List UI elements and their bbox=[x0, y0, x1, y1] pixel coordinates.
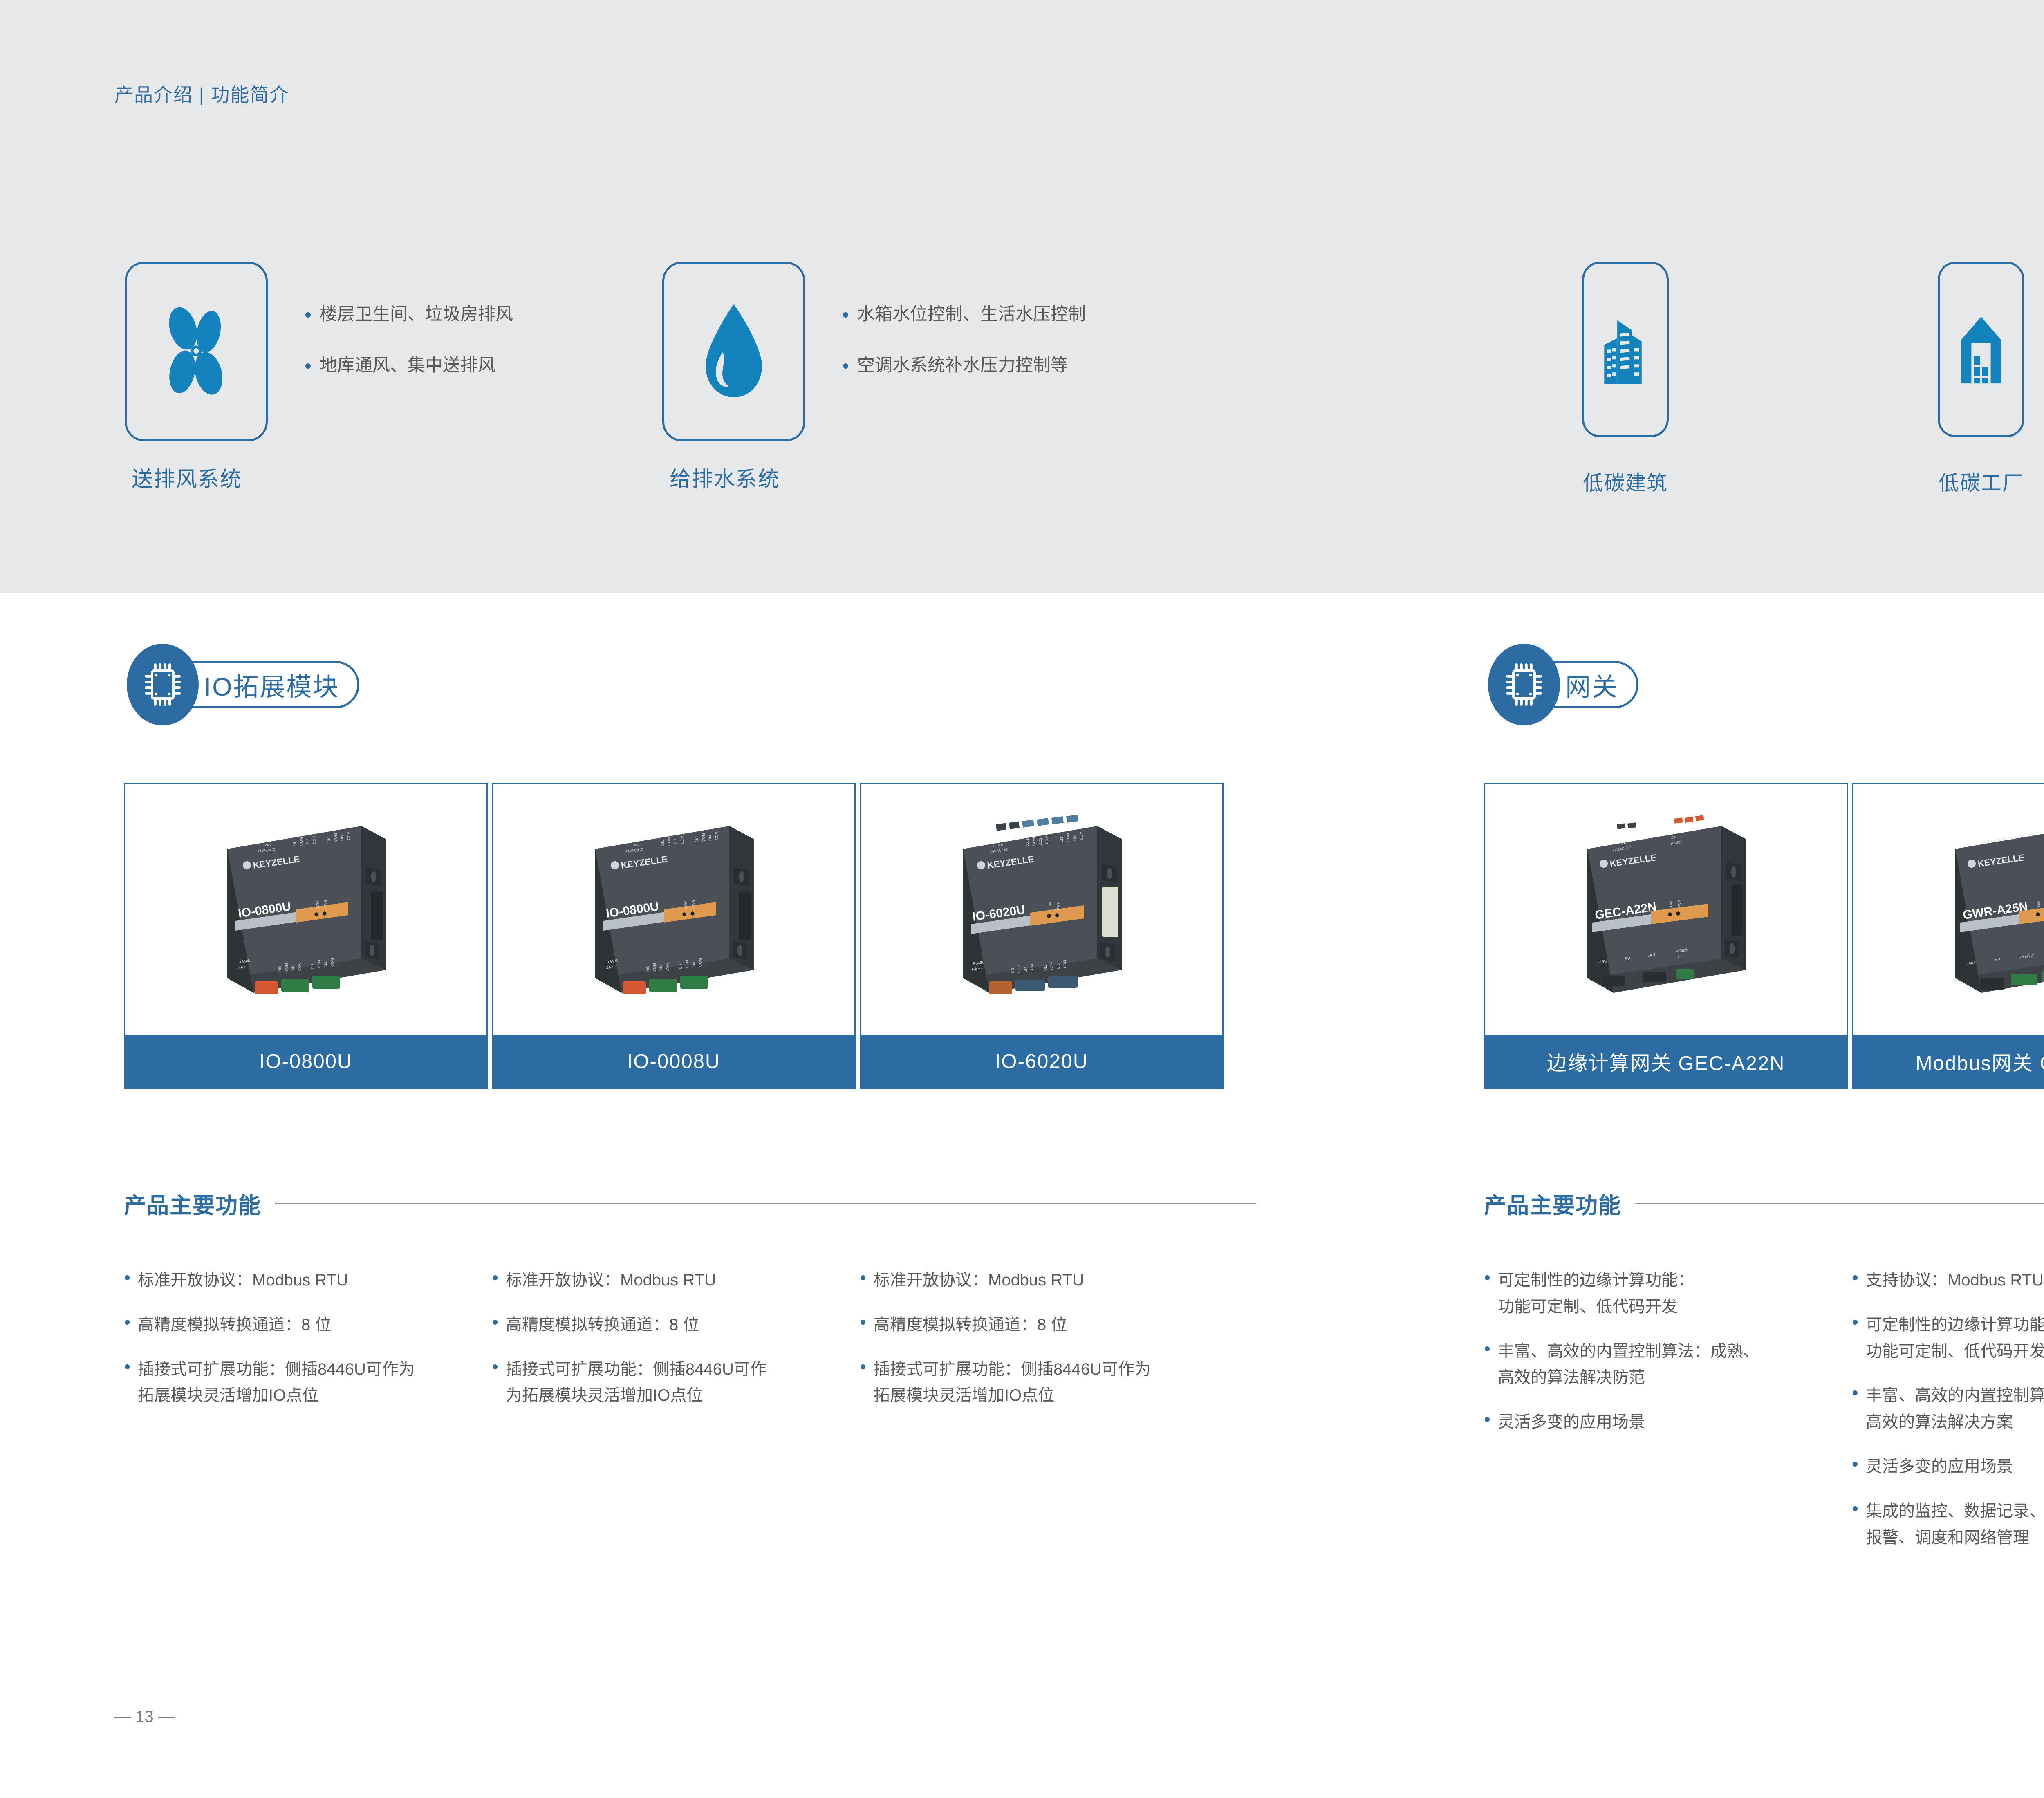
svg-text:UI6: UI6 bbox=[1056, 963, 1060, 969]
product-card[interactable]: GWR-A25N KEYZELLE + - NA 24VAC/DC NA + -… bbox=[1852, 783, 2044, 1089]
bullet-dot-icon bbox=[125, 1364, 130, 1369]
svg-text:DI1: DI1 bbox=[293, 840, 297, 846]
svg-text:DI2: DI2 bbox=[306, 838, 310, 844]
svg-text:COM: COM bbox=[1063, 960, 1067, 968]
product-image: IO-0800U KEYZELLE + - NA 24VAC/DC RS485 … bbox=[125, 784, 486, 1035]
svg-text:COM: COM bbox=[702, 833, 706, 842]
bullet-dot-icon bbox=[305, 363, 311, 369]
bullet-dot-icon bbox=[861, 1275, 865, 1280]
bullet-dot-icon bbox=[493, 1364, 498, 1369]
svg-text:SD: SD bbox=[1625, 956, 1631, 961]
svg-text:DI6: DI6 bbox=[659, 965, 663, 971]
svg-text:COM: COM bbox=[1045, 835, 1049, 844]
product-label: IO-6020U bbox=[861, 1035, 1222, 1088]
chip-icon bbox=[143, 661, 182, 708]
feature-text: 标准开放协议：Modbus RTU bbox=[874, 1267, 1084, 1294]
feature-bullet: 插接式可扩展功能：侧插8446U可作 为拓展模块灵活增加IO点位 bbox=[493, 1356, 836, 1409]
device-photo-io-6020u: IO-6020U KEYZELLE + - NA 24VAC/DC RS485 … bbox=[911, 803, 1172, 1016]
bullet-dot-icon bbox=[861, 1364, 865, 1369]
fan-icon-frame bbox=[125, 262, 268, 441]
svg-text:COM: COM bbox=[1017, 965, 1021, 973]
feature-text: 插接式可扩展功能：侧插8446U可作为 拓展模块灵活增加IO点位 bbox=[138, 1356, 415, 1409]
svg-text:COM: COM bbox=[1066, 833, 1070, 842]
product-card[interactable]: IO-0800U KEYZELLE + - NA 24VAC/DC RS485 … bbox=[124, 783, 488, 1089]
features-heading-io-modules: 产品主要功能 bbox=[124, 1187, 1256, 1220]
bullet-item: 楼层卫生间、垃圾房排风 bbox=[305, 306, 513, 323]
svg-text:COM: COM bbox=[667, 837, 671, 846]
feature-bullet: 支持协议：Modbus RTU bbox=[1853, 1267, 2044, 1294]
svg-text:COM: COM bbox=[312, 835, 316, 844]
svg-text:DI2: DI2 bbox=[674, 838, 678, 844]
svg-text:DI8: DI8 bbox=[692, 962, 696, 967]
feature-text: 灵活多变的应用场景 bbox=[1498, 1409, 1645, 1435]
device-photo-io-0008u: IO-0800U KEYZELLE + - NA 24VAC/DC RS485 … bbox=[543, 803, 805, 1016]
svg-text:COM: COM bbox=[330, 958, 334, 967]
office-building-icon-frame bbox=[1582, 262, 1669, 437]
svg-text:UI3: UI3 bbox=[1011, 967, 1015, 973]
feature-text: 可定制性的边缘计算功能： 功能可定制、低代码开发 bbox=[1866, 1312, 2044, 1365]
feature-bullet: 标准开放协议：Modbus RTU bbox=[125, 1267, 468, 1294]
bullet-dot-icon bbox=[1853, 1390, 1858, 1395]
feature-column-io-2: 标准开放协议：Modbus RTU 高精度模拟转换通道：8 位 插接式可扩展功能… bbox=[493, 1267, 836, 1427]
bullet-dot-icon bbox=[493, 1320, 498, 1325]
spread-page: 产品介绍 | 功能简介 产品介绍 | 功能简介 楼层卫生间、垃圾房排风 bbox=[0, 0, 2044, 1798]
feature-column-gw-1: 可定制性的边缘计算功能： 功能可定制、低代码开发 丰富、高效的内置控制算法：成熟… bbox=[1485, 1267, 1828, 1453]
svg-text:PWR: PWR bbox=[1677, 900, 1681, 909]
feature-text: 支持协议：Modbus RTU bbox=[1866, 1267, 2044, 1294]
feature-column-io-1: 标准开放协议：Modbus RTU 高精度模拟转换通道：8 位 插接式可扩展功能… bbox=[125, 1267, 468, 1427]
svg-text:DI1: DI1 bbox=[661, 840, 665, 846]
bullet-dot-icon bbox=[843, 312, 848, 318]
fan-icon bbox=[157, 304, 235, 400]
svg-text:UI2: UI2 bbox=[1073, 835, 1077, 841]
svg-text:PWR: PWR bbox=[324, 900, 328, 909]
feature-bullet: 插接式可扩展功能：侧插8446U可作为 拓展模块灵活增加IO点位 bbox=[125, 1356, 468, 1409]
feature-text: 可定制性的边缘计算功能： 功能可定制、低代码开发 bbox=[1498, 1267, 1694, 1320]
svg-text:COM: COM bbox=[317, 960, 321, 968]
feature-text: 集成的监控、数据记录、能耗计量、 报警、调度和网络管理 bbox=[1866, 1498, 2044, 1551]
feature-text: 高精度模拟转换通道：8 位 bbox=[506, 1312, 699, 1338]
product-card[interactable]: GEC-A22N KEYZELLE + - NA 24VAC/DC NA + -… bbox=[1484, 783, 1848, 1089]
scenario-water-title: 给排水系统 bbox=[670, 462, 780, 493]
scenario-water-supply: 水箱水位控制、生活水压控制 空调水系统补水压力控制等 bbox=[662, 262, 1086, 441]
svg-text:+ -: + - bbox=[1677, 954, 1682, 959]
feature-bullet: 标准开放协议：Modbus RTU bbox=[493, 1267, 836, 1294]
bullet-dot-icon bbox=[1485, 1417, 1490, 1422]
tile-low-carbon-factory: 低碳工厂 bbox=[1938, 262, 2024, 496]
bullet-dot-icon bbox=[1853, 1320, 1858, 1325]
feature-column-io-3: 标准开放协议：Modbus RTU 高精度模拟转换通道：8 位 插接式可扩展功能… bbox=[861, 1267, 1204, 1427]
device-photo-gec-a22n: GEC-A22N KEYZELLE + - NA 24VAC/DC NA + -… bbox=[1535, 803, 1797, 1016]
feature-text: 高精度模拟转换通道：8 位 bbox=[138, 1312, 331, 1338]
svg-text:AO1: AO1 bbox=[1025, 838, 1029, 846]
svg-text:PWR: PWR bbox=[1056, 901, 1060, 910]
svg-text:DI5: DI5 bbox=[278, 966, 282, 972]
svg-text:DI7: DI7 bbox=[679, 963, 683, 969]
office-building-icon bbox=[1599, 314, 1652, 385]
scenario-ventilation-title: 送排风系统 bbox=[132, 462, 242, 493]
svg-text:COM: COM bbox=[334, 833, 338, 842]
features-title: 产品主要功能 bbox=[1484, 1187, 1621, 1220]
product-label: Modbus网关 GWR-A25N bbox=[1853, 1035, 2044, 1088]
svg-text:DI8: DI8 bbox=[324, 962, 328, 967]
feature-bullet: 插接式可扩展功能：侧插8446U可作为 拓展模块灵活增加IO点位 bbox=[861, 1356, 1204, 1409]
svg-text:COM: COM bbox=[1032, 837, 1036, 846]
feature-text: 高精度模拟转换通道：8 位 bbox=[874, 1312, 1067, 1338]
features-heading-gateways: 产品主要功能 bbox=[1484, 1187, 2044, 1220]
feature-bullet: 高精度模拟转换通道：8 位 bbox=[493, 1312, 836, 1338]
feature-text: 标准开放协议：Modbus RTU bbox=[506, 1267, 716, 1294]
bullet-dot-icon bbox=[1485, 1346, 1490, 1351]
bullet-dot-icon bbox=[843, 363, 848, 369]
bullet-dot-icon bbox=[861, 1320, 865, 1325]
feature-text: 丰富、高效的内置控制算法：成熟、 高效的算法解决防范 bbox=[1498, 1338, 1759, 1391]
tile-low-carbon-building: 低碳建筑 bbox=[1582, 262, 1669, 496]
factory-icon-frame bbox=[1938, 262, 2024, 437]
bullet-dot-icon bbox=[1485, 1275, 1490, 1280]
svg-text:DI3: DI3 bbox=[695, 837, 699, 842]
section-title: IO拓展模块 bbox=[204, 666, 339, 703]
svg-text:DI5: DI5 bbox=[646, 966, 650, 972]
feature-bullet: 高精度模拟转换通道：8 位 bbox=[125, 1312, 468, 1338]
feature-bullet: 集成的监控、数据记录、能耗计量、 报警、调度和网络管理 bbox=[1853, 1498, 2044, 1551]
product-label: IO-0008U bbox=[493, 1035, 854, 1088]
feature-bullet: 可定制性的边缘计算功能： 功能可定制、低代码开发 bbox=[1485, 1267, 1828, 1320]
bullet-text: 楼层卫生间、垃圾房排风 bbox=[320, 306, 513, 323]
svg-text:COM: COM bbox=[680, 835, 684, 844]
svg-text:485: 485 bbox=[1994, 958, 2001, 963]
svg-text:DI3: DI3 bbox=[327, 837, 331, 842]
svg-text:COM: COM bbox=[1050, 961, 1054, 970]
bullet-dot-icon bbox=[305, 312, 311, 318]
svg-text:COM: COM bbox=[666, 962, 670, 971]
bullet-dot-icon bbox=[125, 1275, 130, 1280]
feature-bullet: 灵活多变的应用场景 bbox=[1485, 1409, 1828, 1435]
svg-text:COM: COM bbox=[685, 960, 689, 968]
svg-text:COM: COM bbox=[298, 962, 302, 971]
bullet-item: 地库通风、集中送排风 bbox=[305, 357, 513, 374]
svg-text:COM: COM bbox=[652, 963, 657, 972]
feature-text: 插接式可扩展功能：侧插8446U可作为 拓展模块灵活增加IO点位 bbox=[874, 1356, 1151, 1409]
feature-bullet: 丰富、高效的内置控制算法：成熟、 高效的算法解决方案 bbox=[1853, 1382, 2044, 1435]
feature-text: 标准开放协议：Modbus RTU bbox=[138, 1267, 348, 1294]
tile-label: 低碳建筑 bbox=[1582, 467, 1669, 496]
feature-text: 丰富、高效的内置控制算法：成熟、 高效的算法解决方案 bbox=[1866, 1382, 2044, 1435]
product-card[interactable]: IO-6020U KEYZELLE + - NA 24VAC/DC RS485 … bbox=[860, 783, 1224, 1089]
svg-text:COM: COM bbox=[316, 901, 320, 909]
svg-text:COM: COM bbox=[1030, 964, 1034, 972]
svg-text:COM: COM bbox=[715, 831, 719, 840]
feature-bullet: 可定制性的边缘计算功能： 功能可定制、低代码开发 bbox=[1853, 1312, 2044, 1365]
svg-text:UI4: UI4 bbox=[1024, 967, 1028, 972]
device-photo-gwr-a25n: GWR-A25N KEYZELLE + - NA 24VAC/DC NA + -… bbox=[1903, 803, 2044, 1016]
water-drop-icon-frame bbox=[662, 262, 805, 441]
water-drop-icon bbox=[699, 302, 769, 401]
device-photo-io-0800u: IO-0800U KEYZELLE + - NA 24VAC/DC RS485 … bbox=[175, 803, 437, 1016]
scenario-ventilation-bullets: 楼层卫生间、垃圾房排风 地库通风、集中送排风 bbox=[305, 262, 513, 408]
svg-text:DI4: DI4 bbox=[708, 835, 712, 841]
section-title: 网关 bbox=[1565, 666, 1618, 703]
heading-rule bbox=[1635, 1203, 2044, 1204]
bullet-text: 水箱水位控制、生活水压控制 bbox=[857, 306, 1086, 323]
chip-icon bbox=[1504, 661, 1544, 708]
heading-rule bbox=[275, 1203, 1256, 1204]
svg-text:COM: COM bbox=[299, 837, 303, 846]
bullet-dot-icon bbox=[1853, 1462, 1858, 1467]
svg-text:DI6: DI6 bbox=[291, 965, 295, 971]
bullet-dot-icon bbox=[125, 1320, 130, 1325]
feature-bullet: 丰富、高效的内置控制算法：成熟、 高效的算法解决防范 bbox=[1485, 1338, 1828, 1391]
svg-text:PWR: PWR bbox=[692, 900, 696, 909]
svg-text:DI7: DI7 bbox=[311, 963, 315, 969]
svg-text:COM: COM bbox=[285, 963, 289, 972]
feature-text: 插接式可扩展功能：侧插8446U可作 为拓展模块灵活增加IO点位 bbox=[506, 1356, 766, 1409]
svg-text:COM: COM bbox=[1048, 902, 1052, 911]
product-image: GEC-A22N KEYZELLE + - NA 24VAC/DC NA + -… bbox=[1485, 784, 1847, 1035]
bullet-dot-icon bbox=[1853, 1275, 1858, 1280]
feature-bullet: 高精度模拟转换通道：8 位 bbox=[861, 1312, 1204, 1338]
scenario-ventilation: 楼层卫生间、垃圾房排风 地库通风、集中送排风 bbox=[125, 262, 513, 441]
feature-bullet: 标准开放协议：Modbus RTU bbox=[861, 1267, 1204, 1294]
feature-text: 灵活多变的应用场景 bbox=[1866, 1453, 2013, 1480]
product-label: IO-0800U bbox=[125, 1035, 486, 1088]
svg-text:COM: COM bbox=[1669, 901, 1673, 909]
product-image: GWR-A25N KEYZELLE + - NA 24VAC/DC NA + -… bbox=[1853, 784, 2044, 1035]
product-image: IO-0800U KEYZELLE + - NA 24VAC/DC RS485 … bbox=[493, 784, 854, 1035]
svg-text:UI1: UI1 bbox=[1060, 837, 1064, 842]
product-card[interactable]: IO-0800U KEYZELLE + - NA 24VAC/DC RS485 … bbox=[492, 783, 856, 1089]
page-number-left: — 13 — bbox=[114, 1708, 175, 1726]
bullet-text: 地库通风、集中送排风 bbox=[320, 357, 495, 374]
factory-icon bbox=[1957, 314, 2005, 385]
svg-text:UI5: UI5 bbox=[1043, 965, 1047, 971]
svg-text:COM: COM bbox=[684, 901, 688, 909]
chip-icon-badge bbox=[127, 644, 199, 725]
running-head-left: 产品介绍 | 功能简介 bbox=[114, 80, 289, 107]
svg-text:COM: COM bbox=[347, 831, 351, 840]
svg-text:AO2: AO2 bbox=[1038, 837, 1042, 845]
features-title: 产品主要功能 bbox=[124, 1187, 261, 1220]
tile-label: 低碳工厂 bbox=[1938, 467, 2024, 496]
svg-text:COM: COM bbox=[1079, 831, 1083, 840]
bullet-dot-icon bbox=[1853, 1506, 1858, 1511]
product-image: IO-6020U KEYZELLE + - NA 24VAC/DC RS485 … bbox=[861, 784, 1222, 1035]
svg-text:COM: COM bbox=[2037, 901, 2041, 909]
svg-text:COM: COM bbox=[698, 958, 702, 967]
svg-text:DI4: DI4 bbox=[340, 835, 344, 841]
bullet-dot-icon bbox=[493, 1275, 498, 1280]
product-label: 边缘计算网关 GEC-A22N bbox=[1485, 1035, 1847, 1088]
feature-column-gw-2: 支持协议：Modbus RTU 可定制性的边缘计算功能： 功能可定制、低代码开发… bbox=[1853, 1267, 2044, 1569]
chip-icon-badge bbox=[1488, 644, 1560, 725]
bullet-text: 空调水系统补水压力控制等 bbox=[857, 357, 1068, 374]
scenario-water-bullets: 水箱水位控制、生活水压控制 空调水系统补水压力控制等 bbox=[843, 262, 1086, 408]
bullet-item: 水箱水位控制、生活水压控制 bbox=[843, 306, 1086, 323]
feature-bullet: 灵活多变的应用场景 bbox=[1853, 1453, 2044, 1480]
bullet-item: 空调水系统补水压力控制等 bbox=[843, 357, 1086, 374]
